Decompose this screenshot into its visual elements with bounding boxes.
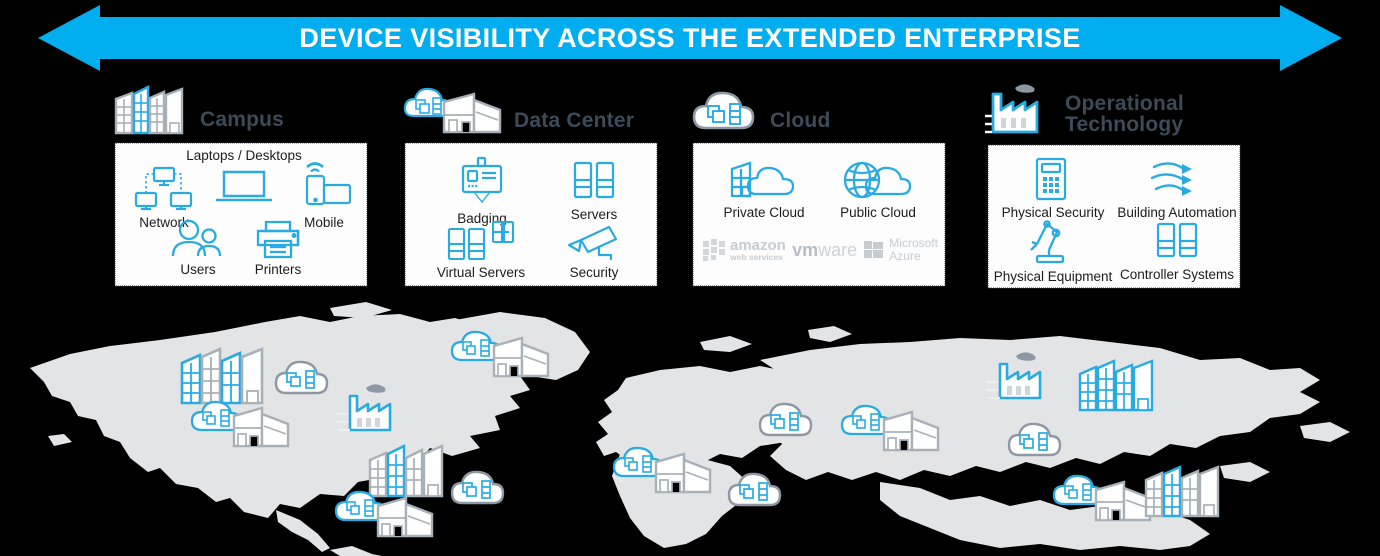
ot-item-building-automation[interactable]: Building Automation [1115,156,1239,221]
campus-title: Campus [200,109,284,130]
campus-item-printers[interactable]: Printers [238,219,318,278]
category-operational-technology: Operational Technology Physical Securit [985,84,1241,296]
vendor-aws-line2: web services [730,253,786,262]
map-marker-cloud[interactable] [725,466,787,517]
ot-item-physical-equipment-label: Physical Equipment [994,270,1113,285]
cloud-panel: Private Cloud Public Cloud [693,143,945,286]
cloud-item-public-label: Public Cloud [840,206,916,221]
map-marker-data-center[interactable] [840,398,944,461]
vendor-vmware-line1: vm [792,240,818,261]
infographic-root: DEVICE VISIBILITY ACROSS THE EXTENDED EN… [0,0,1380,556]
dc-item-servers-label: Servers [571,208,618,223]
private-cloud-building-icon [726,154,802,202]
campus-item-users[interactable]: Users [158,219,238,278]
printer-icon [251,219,305,259]
banner-arrow-shape [0,0,1380,76]
data-center-cloud-building-icon [402,82,510,143]
map-marker-data-center[interactable] [334,484,438,547]
ot-item-controller-systems-label: Controller Systems [1120,268,1234,283]
vendor-azure: Microsoft Azure [863,237,938,262]
ot-header: Operational Technology [985,84,1285,142]
map-marker-data-center[interactable] [612,440,716,503]
map-marker-factory[interactable] [986,348,1056,409]
robot-arm-icon [1025,220,1081,266]
cloud-server-icon [690,84,762,141]
airflow-arrows-icon [1148,156,1206,202]
data-center-header: Data Center [402,84,658,140]
cloud-title: Cloud [770,110,830,131]
map-marker-data-center[interactable] [1052,468,1156,531]
ot-panel: Physical Security Building Aut [988,145,1240,288]
campus-header: Campus [112,84,372,140]
map-marker-cloud[interactable] [448,464,510,515]
aws-logo-icon [702,237,728,263]
microsoft-azure-logo-icon [863,239,885,261]
office-buildings-icon [112,83,192,142]
map-marker-campus[interactable] [1076,354,1164,421]
security-camera-icon [565,224,623,262]
cloud-header: Cloud [690,84,946,140]
server-rack-icon [571,160,617,204]
ot-item-physical-security-label: Physical Security [1002,206,1105,221]
laptop-icon [212,166,276,208]
vendor-aws-line1: amazon [730,238,786,253]
category-cloud: Cloud Private Cloud [690,84,946,294]
map-marker-data-center[interactable] [190,394,294,457]
vendor-vmware-line2: ware [818,240,857,261]
ot-item-building-automation-label: Building Automation [1117,206,1236,221]
dc-item-security-label: Security [570,266,619,281]
dc-item-virtual-servers[interactable]: Virtual Servers [421,220,541,281]
data-center-panel: Badging Servers [405,143,657,286]
ot-item-physical-security[interactable]: Physical Security [995,156,1111,221]
virtual-servers-icon [445,220,517,262]
cloud-vendor-logos: amazon web services vm ware [702,230,938,270]
public-cloud-globe-icon [840,154,916,202]
map-marker-campus[interactable] [1142,460,1230,527]
ot-title: Operational Technology [1065,93,1184,135]
keypad-access-panel-icon [1032,156,1074,202]
users-icon [169,219,227,259]
ot-item-controller-systems[interactable]: Controller Systems [1115,220,1239,283]
cloud-item-private[interactable]: Private Cloud [712,154,816,221]
vendor-aws: amazon web services [702,237,786,263]
factory-icon [985,82,1061,145]
map-marker-data-center[interactable] [450,324,554,387]
dc-item-security[interactable]: Security [546,224,642,281]
world-map [0,296,1380,556]
category-campus: Campus Networ [112,84,372,294]
map-marker-factory[interactable] [336,380,406,441]
controller-rack-icon [1154,220,1200,264]
dc-item-badging[interactable]: Badging [434,156,530,227]
double-arrow-icon [38,5,1342,71]
cloud-item-public[interactable]: Public Cloud [826,154,930,221]
map-marker-cloud[interactable] [1005,416,1067,467]
data-center-title: Data Center [514,110,634,131]
category-data-center: Data Center Badging [402,84,658,294]
ot-item-physical-equipment[interactable]: Physical Equipment [995,220,1111,285]
id-badge-icon [454,156,510,208]
campus-item-printers-label: Printers [255,263,302,278]
vendor-vmware: vm ware [792,240,857,261]
dc-item-servers[interactable]: Servers [546,160,642,223]
mobile-phone-tablet-icon [293,158,355,212]
campus-panel: Network Laptops / Desktops [115,143,367,286]
dc-item-virtual-servers-label: Virtual Servers [437,266,525,281]
map-marker-cloud[interactable] [756,396,818,447]
cloud-item-private-label: Private Cloud [723,206,804,221]
vendor-azure-line2: Azure [889,250,938,263]
campus-item-users-label: Users [180,263,215,278]
header-banner: DEVICE VISIBILITY ACROSS THE EXTENDED EN… [0,0,1380,76]
